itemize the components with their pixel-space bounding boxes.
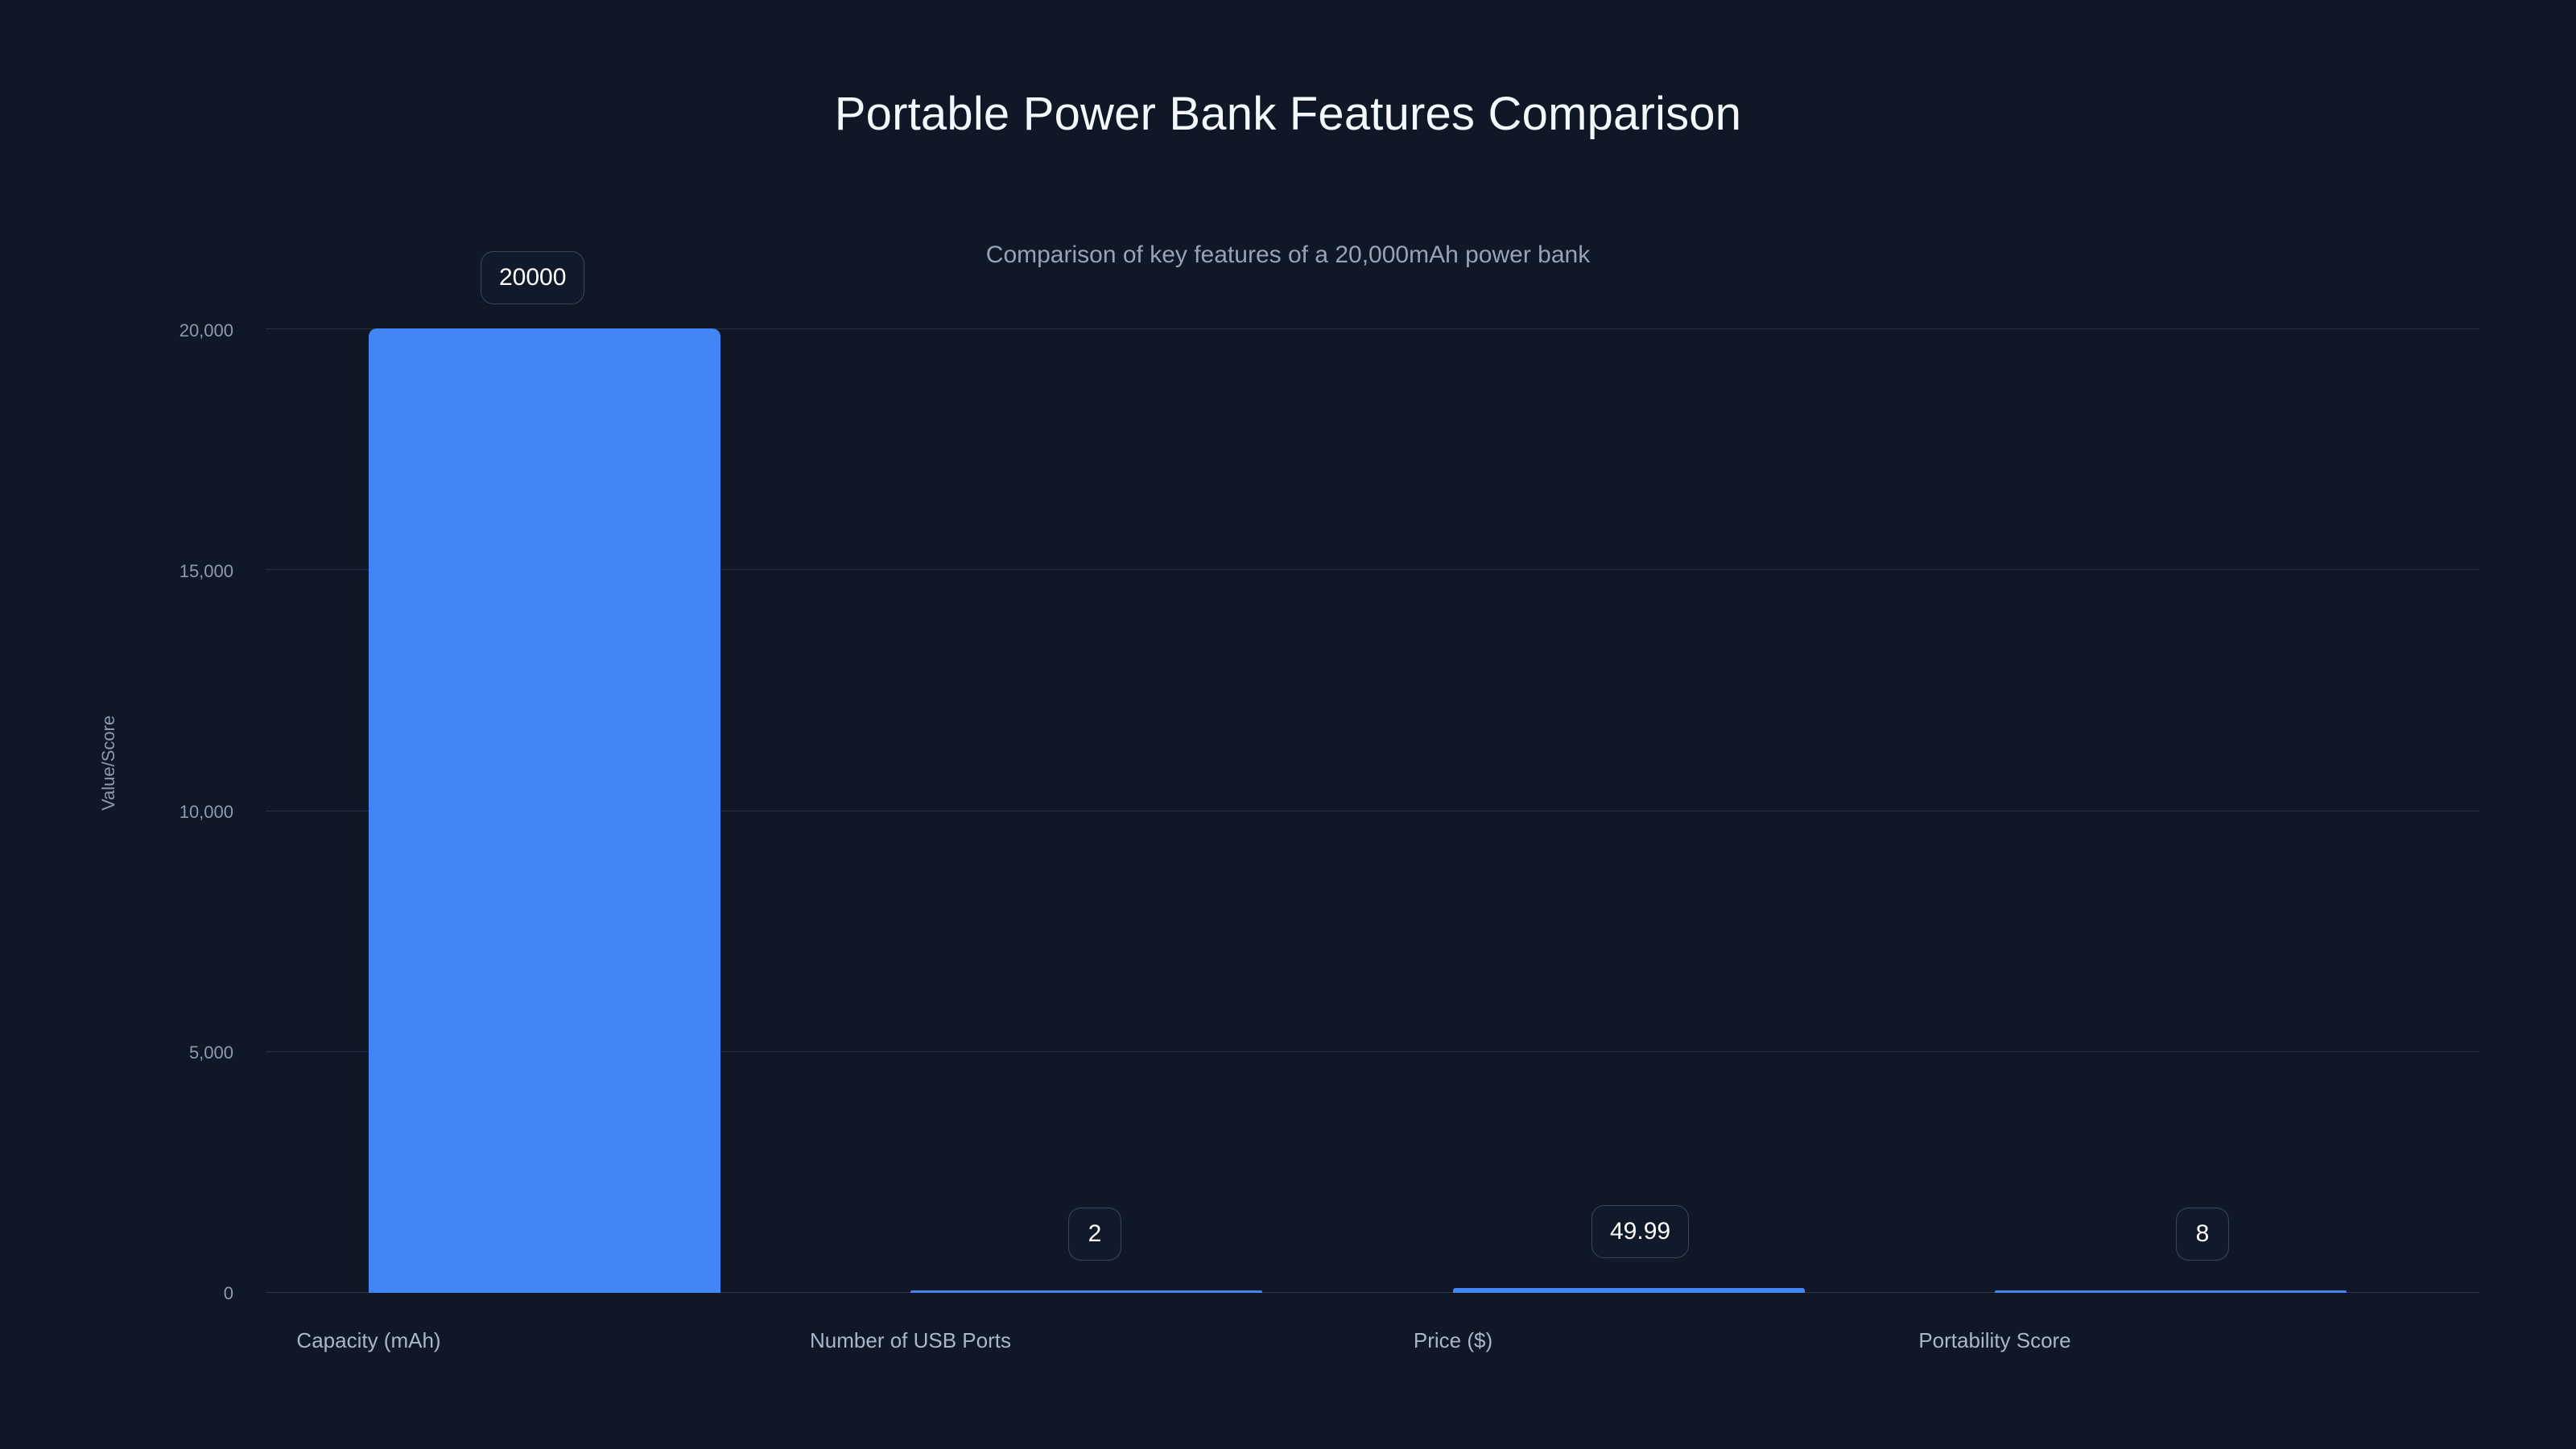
bar-price[interactable] (1453, 1288, 1805, 1293)
x-tick-label-portability-score: Portability Score (1818, 1328, 2172, 1353)
value-badge-number-of-usb-ports: 2 (1068, 1207, 1121, 1261)
value-badge-portability-score: 8 (2176, 1207, 2229, 1261)
plot-area (266, 328, 2479, 1293)
chart-title: Portable Power Bank Features Comparison (0, 87, 2576, 141)
x-tick-label-number-of-usb-ports: Number of USB Ports (733, 1328, 1088, 1353)
x-tick-label-price: Price ($) (1276, 1328, 1630, 1353)
y-tick-label-10000: 10,000 (89, 802, 233, 823)
bar-portability-score[interactable] (1995, 1290, 2347, 1293)
y-axis-title: Value/Score (98, 569, 119, 811)
y-tick-label-5000: 5,000 (89, 1042, 233, 1063)
bar-number-of-usb-ports[interactable] (910, 1290, 1262, 1293)
x-tick-label-capacity-mah: Capacity (mAh) (192, 1328, 546, 1353)
bar-chart-canvas: Portable Power Bank Features Comparison … (0, 0, 2576, 1449)
value-badge-price: 49.99 (1591, 1205, 1689, 1258)
value-badge-capacity-mah: 20000 (481, 251, 584, 304)
y-tick-label-20000: 20,000 (89, 320, 233, 341)
y-tick-label-0: 0 (89, 1283, 233, 1304)
y-tick-label-15000: 15,000 (89, 561, 233, 582)
bar-capacity-mah[interactable] (369, 328, 720, 1293)
chart-subtitle: Comparison of key features of a 20,000mA… (0, 242, 2576, 269)
